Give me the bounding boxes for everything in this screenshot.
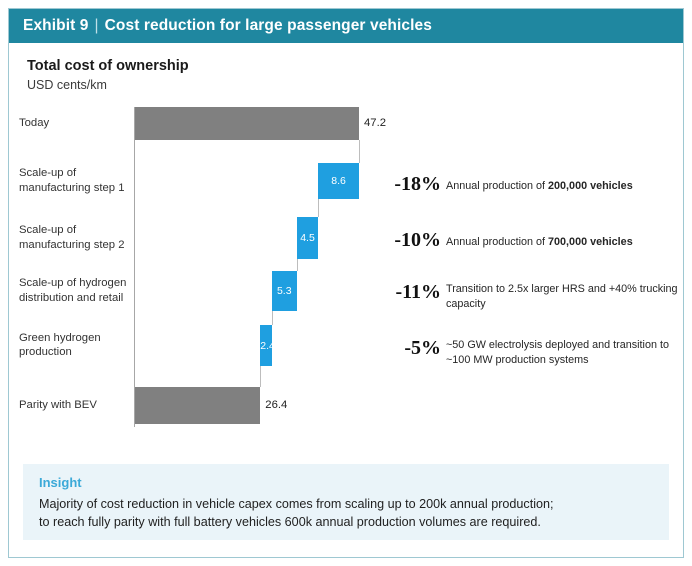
- pct-label-4: -5%: [375, 337, 441, 360]
- category-label-line1: Scale-up of: [19, 223, 129, 237]
- pct-label-3: -11%: [375, 281, 441, 304]
- category-label-line1: Scale-up of hydrogen: [19, 276, 129, 290]
- pct-label-2: -10%: [375, 229, 441, 252]
- chart-unit-label: USD cents/km: [27, 77, 683, 93]
- chart-subtitle-block: Total cost of ownership USD cents/km: [9, 43, 683, 93]
- bar-value-label-5: 26.4: [265, 399, 287, 411]
- bar-1: 8.6: [318, 163, 359, 199]
- annotation-4: ~50 GW electrolysis deployed and transit…: [446, 338, 678, 367]
- category-label-1: Scale-up ofmanufacturing step 1: [19, 166, 129, 195]
- bar-5: [135, 387, 260, 424]
- category-label-0: Today: [19, 116, 129, 130]
- insight-line-2: to reach fully parity with full battery …: [39, 513, 653, 531]
- category-label-line2: manufacturing step 1: [19, 181, 129, 195]
- chart-baseline-axis: [134, 107, 135, 427]
- category-label-3: Scale-up of hydrogendistribution and ret…: [19, 276, 129, 305]
- annotation-2: Annual production of 700,000 vehicles: [446, 235, 678, 249]
- bar-value-label-2: 4.5: [297, 232, 318, 244]
- bar-value-label-0: 47.2: [364, 117, 386, 129]
- category-label-4: Green hydrogenproduction: [19, 331, 129, 360]
- bar-value-label-3: 5.3: [272, 285, 297, 297]
- category-label-line1: Scale-up of: [19, 166, 129, 180]
- category-label-line2: distribution and retail: [19, 291, 129, 305]
- waterfall-chart: Today47.2Scale-up ofmanufacturing step 1…: [9, 107, 683, 427]
- annotation-1: Annual production of 200,000 vehicles: [446, 179, 678, 193]
- category-label-line1: Parity with BEV: [19, 398, 129, 412]
- annotation-3: Transition to 2.5x larger HRS and +40% t…: [446, 282, 678, 311]
- category-label-2: Scale-up ofmanufacturing step 2: [19, 223, 129, 252]
- connector-2: [297, 259, 298, 271]
- connector-4: [260, 366, 261, 387]
- banner-separator: |: [95, 17, 99, 35]
- chart-title: Total cost of ownership: [27, 57, 683, 75]
- exhibit-card: Exhibit 9 | Cost reduction for large pas…: [8, 8, 684, 558]
- insight-title: Insight: [39, 475, 653, 490]
- pct-label-1: -18%: [375, 173, 441, 196]
- category-label-5: Parity with BEV: [19, 398, 129, 412]
- exhibit-title: Cost reduction for large passenger vehic…: [105, 17, 432, 35]
- bar-value-label-4: 2.4: [260, 340, 271, 352]
- category-label-line1: Today: [19, 116, 129, 130]
- annotation-emphasis: 200,000 vehicles: [548, 180, 633, 192]
- annotation-emphasis: 700,000 vehicles: [548, 236, 633, 248]
- exhibit-banner: Exhibit 9 | Cost reduction for large pas…: [9, 9, 683, 43]
- connector-3: [272, 311, 273, 325]
- bar-2: 4.5: [297, 217, 318, 259]
- connector-0: [359, 140, 360, 163]
- bar-3: 5.3: [272, 271, 297, 311]
- insight-box: Insight Majority of cost reduction in ve…: [23, 464, 669, 540]
- category-label-line2: production: [19, 345, 129, 359]
- bar-4: 2.4: [260, 325, 271, 366]
- category-label-line2: manufacturing step 2: [19, 238, 129, 252]
- category-label-line1: Green hydrogen: [19, 331, 129, 345]
- connector-1: [318, 199, 319, 217]
- bar-value-label-1: 8.6: [318, 175, 359, 187]
- bar-0: [135, 107, 359, 140]
- insight-line-1: Majority of cost reduction in vehicle ca…: [39, 495, 653, 513]
- exhibit-number: Exhibit 9: [23, 17, 89, 35]
